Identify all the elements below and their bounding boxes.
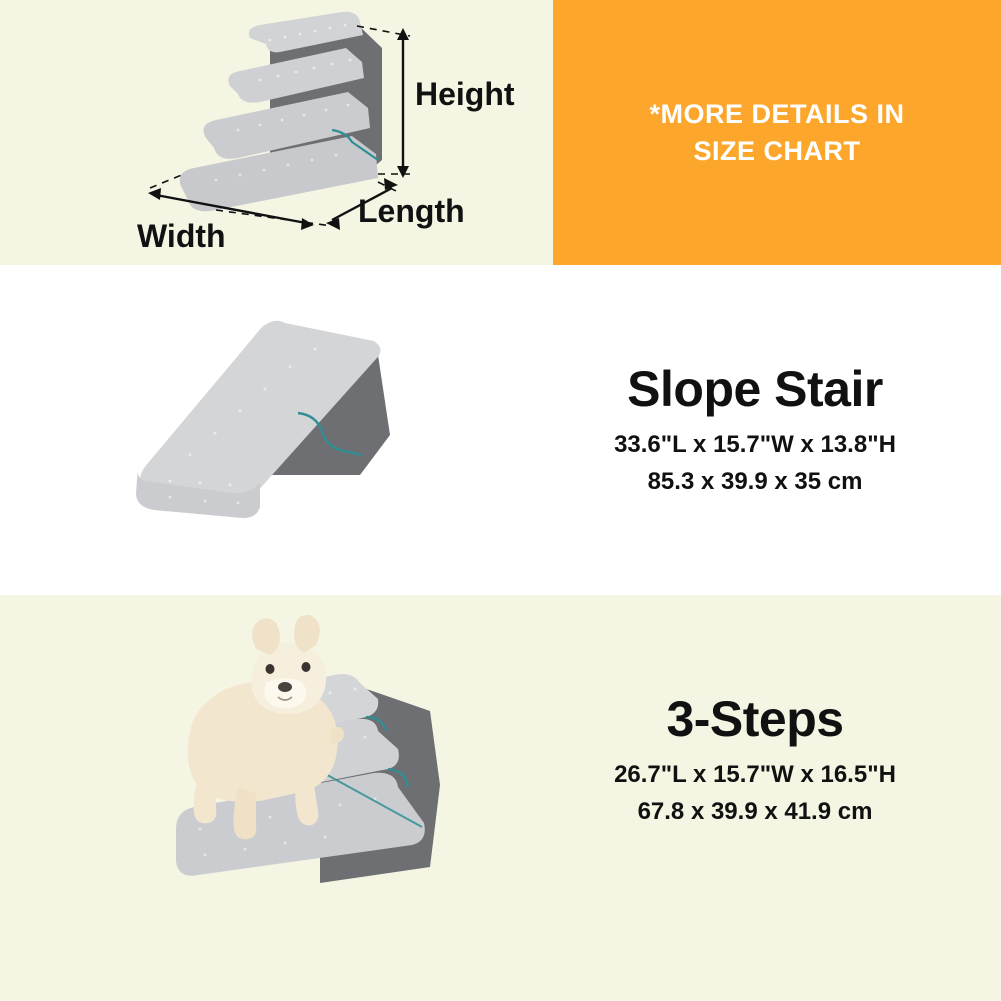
banner-line-2: SIZE CHART	[553, 133, 1001, 169]
label-height: Height	[415, 76, 515, 113]
three-steps-section: 3-Steps 26.7"L x 15.7"W x 16.5"H 67.8 x …	[0, 595, 1001, 1001]
banner-line-1: *MORE DETAILS IN	[553, 96, 1001, 132]
slope-stair-section: Slope Stair 33.6"L x 15.7"W x 13.8"H 85.…	[0, 265, 1001, 595]
slope-stair-name: Slope Stair	[520, 360, 990, 418]
three-steps-dimensions-inches: 26.7"L x 15.7"W x 16.5"H	[520, 758, 990, 793]
top-band: Height Length Width *MORE DETAILS IN SIZ…	[0, 0, 1001, 265]
slope-stair-text-block: Slope Stair 33.6"L x 15.7"W x 13.8"H 85.…	[520, 360, 990, 500]
slope-stair-dimensions-inches: 33.6"L x 15.7"W x 13.8"H	[520, 428, 990, 463]
three-steps-text-block: 3-Steps 26.7"L x 15.7"W x 16.5"H 67.8 x …	[520, 690, 990, 830]
label-width: Width	[137, 218, 226, 255]
three-steps-illustration	[130, 605, 550, 905]
size-chart-banner: *MORE DETAILS IN SIZE CHART	[553, 0, 1001, 265]
three-steps-dimensions-cm: 67.8 x 39.9 x 41.9 cm	[520, 795, 990, 830]
slope-stair-dimensions-cm: 85.3 x 39.9 x 35 cm	[520, 465, 990, 500]
slope-stair-illustration	[110, 315, 510, 565]
infographic-page: Height Length Width *MORE DETAILS IN SIZ…	[0, 0, 1001, 1001]
three-steps-name: 3-Steps	[520, 690, 990, 748]
label-length: Length	[358, 193, 465, 230]
